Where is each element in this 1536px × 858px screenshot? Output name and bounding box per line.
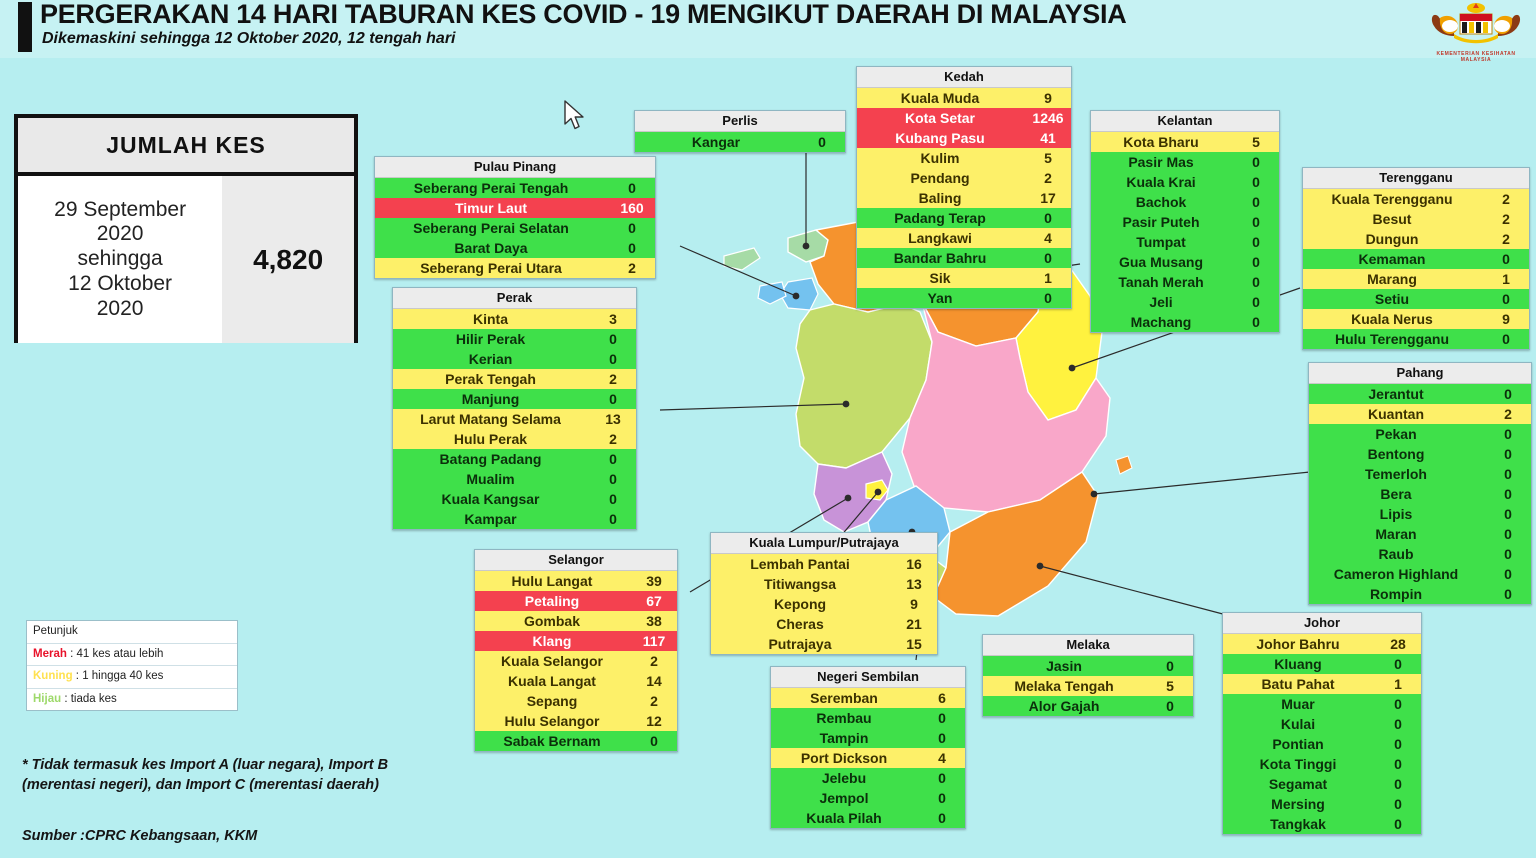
district-case-count: 2	[631, 694, 677, 708]
coat-of-arms-icon	[1424, 2, 1528, 48]
legend-swatch-green: Hijau	[33, 693, 61, 705]
district-case-count: 0	[1025, 251, 1071, 265]
district-name: Setiu	[1303, 292, 1483, 306]
state-table-terengganu: TerengganuKuala Terengganu2Besut2Dungun2…	[1302, 167, 1530, 350]
district-name: Perak Tengah	[393, 372, 590, 386]
source-text: Sumber :CPRC Kebangsaan, KKM	[22, 828, 257, 844]
district-name: Putrajaya	[711, 637, 891, 651]
district-case-count: 9	[1025, 91, 1071, 105]
district-row: Kuala Krai0	[1091, 172, 1279, 192]
district-name: Cameron Highland	[1309, 567, 1485, 581]
district-case-count: 0	[1147, 659, 1193, 673]
district-name: Pendang	[857, 171, 1025, 185]
district-name: Sik	[857, 271, 1025, 285]
district-row: Sepang2	[475, 691, 677, 711]
district-case-count: 0	[1233, 255, 1279, 269]
district-case-count: 6	[919, 691, 965, 705]
district-name: Kuala Nerus	[1303, 312, 1483, 326]
district-row: Baling17	[857, 188, 1071, 208]
district-row: Kota Bharu5	[1091, 132, 1279, 152]
legend-item-red: Merah : 41 kes atau lebih	[27, 644, 237, 667]
district-case-count: 0	[919, 771, 965, 785]
district-name: Pasir Puteh	[1091, 215, 1233, 229]
district-case-count: 0	[1375, 697, 1421, 711]
district-row: Langkawi4	[857, 228, 1071, 248]
district-name: Hulu Langat	[475, 574, 631, 588]
district-row: Sabak Bernam0	[475, 731, 677, 751]
state-table-kelantan: KelantanKota Bharu5Pasir Mas0Kuala Krai0…	[1090, 110, 1280, 333]
state-table-pahang: PahangJerantut0Kuantan2Pekan0Bentong0Tem…	[1308, 362, 1532, 605]
district-case-count: 0	[1485, 387, 1531, 401]
district-name: Hulu Terengganu	[1303, 332, 1483, 346]
district-name: Pontian	[1223, 737, 1375, 751]
district-row: Kulim5	[857, 148, 1071, 168]
district-case-count: 2	[590, 372, 636, 386]
district-name: Melaka Tengah	[983, 679, 1147, 693]
district-case-count: 5	[1147, 679, 1193, 693]
district-name: Kuala Pilah	[771, 811, 919, 825]
district-name: Seberang Perai Tengah	[375, 181, 609, 195]
district-case-count: 0	[590, 352, 636, 366]
district-row: Perak Tengah2	[393, 369, 636, 389]
legend-text-green: : tiada kes	[61, 693, 117, 705]
district-case-count: 0	[1485, 507, 1531, 521]
district-name: Kubang Pasu	[857, 131, 1025, 145]
district-name: Padang Terap	[857, 211, 1025, 225]
district-row: Padang Terap0	[857, 208, 1071, 228]
district-name: Muar	[1223, 697, 1375, 711]
district-row: Bera0	[1309, 484, 1531, 504]
district-row: Maran0	[1309, 524, 1531, 544]
district-row: Larut Matang Selama13	[393, 409, 636, 429]
district-row: Tampin0	[771, 728, 965, 748]
district-name: Yan	[857, 291, 1025, 305]
district-name: Titiwangsa	[711, 577, 891, 591]
district-row: Temerloh0	[1309, 464, 1531, 484]
district-row: Kubang Pasu41	[857, 128, 1071, 148]
district-case-count: 2	[1483, 232, 1529, 246]
district-case-count: 41	[1025, 131, 1071, 145]
district-row: Batang Padang0	[393, 449, 636, 469]
district-case-count: 0	[1025, 291, 1071, 305]
state-table-title: Selangor	[475, 550, 677, 571]
district-case-count: 15	[891, 637, 937, 651]
district-case-count: 1246	[1025, 111, 1071, 125]
district-case-count: 0	[1485, 547, 1531, 561]
district-row: Rompin0	[1309, 584, 1531, 604]
district-case-count: 9	[891, 597, 937, 611]
district-row: Kota Tinggi0	[1223, 754, 1421, 774]
district-row: Klang117	[475, 631, 677, 651]
district-name: Kinta	[393, 312, 590, 326]
district-row: Barat Daya0	[375, 238, 655, 258]
district-name: Port Dickson	[771, 751, 919, 765]
legend-item-yellow: Kuning : 1 hingga 40 kes	[27, 666, 237, 689]
district-row: Jeli0	[1091, 292, 1279, 312]
state-table-title: Pulau Pinang	[375, 157, 655, 178]
district-case-count: 0	[1485, 447, 1531, 461]
district-case-count: 9	[1483, 312, 1529, 326]
state-table-title: Perlis	[635, 111, 845, 132]
state-table-kuala-lumpur-putrajaya: Kuala Lumpur/PutrajayaLembah Pantai16Tit…	[710, 532, 938, 655]
district-case-count: 0	[1147, 699, 1193, 713]
district-case-count: 0	[1375, 737, 1421, 751]
district-case-count: 39	[631, 574, 677, 588]
district-row: Marang1	[1303, 269, 1529, 289]
district-case-count: 160	[609, 201, 655, 215]
district-row: Besut2	[1303, 209, 1529, 229]
district-name: Hulu Perak	[393, 432, 590, 446]
district-name: Bera	[1309, 487, 1485, 501]
district-row: Kangar0	[635, 132, 845, 152]
district-case-count: 117	[631, 634, 677, 648]
page-title: PERGERAKAN 14 HARI TABURAN KES COVID - 1…	[40, 0, 1126, 30]
district-name: Kuala Muda	[857, 91, 1025, 105]
district-row: Jelebu0	[771, 768, 965, 788]
district-name: Rembau	[771, 711, 919, 725]
district-name: Bandar Bahru	[857, 251, 1025, 265]
legend-text-red: : 41 kes atau lebih	[67, 648, 164, 660]
district-row: Tangkak0	[1223, 814, 1421, 834]
legend-title: Petunjuk	[27, 621, 237, 644]
district-name: Tangkak	[1223, 817, 1375, 831]
district-name: Tumpat	[1091, 235, 1233, 249]
district-name: Klang	[475, 634, 631, 648]
district-name: Gua Musang	[1091, 255, 1233, 269]
district-case-count: 0	[1375, 717, 1421, 731]
district-case-count: 0	[609, 181, 655, 195]
district-row: Manjung0	[393, 389, 636, 409]
district-row: Batu Pahat1	[1223, 674, 1421, 694]
district-case-count: 0	[1375, 777, 1421, 791]
district-name: Sepang	[475, 694, 631, 708]
district-name: Kuala Terengganu	[1303, 192, 1483, 206]
logo-caption-line2: MALAYSIA	[1424, 57, 1528, 63]
district-row: Pendang2	[857, 168, 1071, 188]
district-name: Kuantan	[1309, 407, 1485, 421]
district-name: Mualim	[393, 472, 590, 486]
district-name: Kangar	[635, 135, 799, 149]
date-range-line-1: 29 September	[54, 198, 186, 223]
district-case-count: 0	[1485, 567, 1531, 581]
district-row: Kepong9	[711, 594, 937, 614]
header-accent-bar	[18, 2, 32, 52]
district-name: Barat Daya	[375, 241, 609, 255]
district-row: Kota Setar1246	[857, 108, 1071, 128]
district-row: Bandar Bahru0	[857, 248, 1071, 268]
district-row: Kemaman0	[1303, 249, 1529, 269]
district-row: Kuala Pilah0	[771, 808, 965, 828]
district-case-count: 0	[1375, 757, 1421, 771]
district-case-count: 0	[590, 492, 636, 506]
district-case-count: 0	[919, 811, 965, 825]
district-row: Bachok0	[1091, 192, 1279, 212]
state-table-title: Kuala Lumpur/Putrajaya	[711, 533, 937, 554]
district-row: Pasir Puteh0	[1091, 212, 1279, 232]
district-case-count: 0	[1375, 817, 1421, 831]
district-name: Lembah Pantai	[711, 557, 891, 571]
district-name: Pasir Mas	[1091, 155, 1233, 169]
district-case-count: 1	[1025, 271, 1071, 285]
district-row: Kampar0	[393, 509, 636, 529]
district-name: Bentong	[1309, 447, 1485, 461]
district-name: Jeli	[1091, 295, 1233, 309]
district-case-count: 21	[891, 617, 937, 631]
district-name: Gombak	[475, 614, 631, 628]
district-case-count: 1	[1483, 272, 1529, 286]
district-row: Putrajaya15	[711, 634, 937, 654]
district-case-count: 0	[1233, 215, 1279, 229]
district-name: Hulu Selangor	[475, 714, 631, 728]
district-name: Tampin	[771, 731, 919, 745]
legend-swatch-yellow: Kuning	[33, 670, 73, 682]
district-case-count: 2	[590, 432, 636, 446]
state-table-kedah: KedahKuala Muda9Kota Setar1246Kubang Pas…	[856, 66, 1072, 309]
moh-malaysia-logo: KEMENTERIAN KESIHATAN MALAYSIA	[1424, 2, 1528, 64]
district-case-count: 17	[1025, 191, 1071, 205]
district-row: Melaka Tengah5	[983, 676, 1193, 696]
district-row: Hulu Terengganu0	[1303, 329, 1529, 349]
district-case-count: 0	[1233, 175, 1279, 189]
district-row: Cameron Highland0	[1309, 564, 1531, 584]
district-name: Kota Bharu	[1091, 135, 1233, 149]
district-case-count: 13	[590, 412, 636, 426]
district-row: Kuala Nerus9	[1303, 309, 1529, 329]
district-row: Seberang Perai Utara2	[375, 258, 655, 278]
district-name: Dungun	[1303, 232, 1483, 246]
district-case-count: 1	[1375, 677, 1421, 691]
district-name: Cheras	[711, 617, 891, 631]
district-case-count: 0	[1233, 275, 1279, 289]
district-name: Sabak Bernam	[475, 734, 631, 748]
map-region-tioman-island	[1116, 456, 1132, 474]
district-row: Seberang Perai Tengah0	[375, 178, 655, 198]
district-row: Bentong0	[1309, 444, 1531, 464]
legend-petunjuk: Petunjuk Merah : 41 kes atau lebih Kunin…	[26, 620, 238, 711]
district-case-count: 2	[609, 261, 655, 275]
state-table-negeri-sembilan: Negeri SembilanSeremban6Rembau0Tampin0Po…	[770, 666, 966, 829]
district-name: Kuala Selangor	[475, 654, 631, 668]
district-name: Alor Gajah	[983, 699, 1147, 713]
district-case-count: 13	[891, 577, 937, 591]
district-case-count: 67	[631, 594, 677, 608]
state-table-johor: JohorJohor Bahru28Kluang0Batu Pahat1Muar…	[1222, 612, 1422, 835]
district-name: Johor Bahru	[1223, 637, 1375, 651]
district-row: Kuala Terengganu2	[1303, 189, 1529, 209]
district-case-count: 28	[1375, 637, 1421, 651]
district-row: Machang0	[1091, 312, 1279, 332]
district-case-count: 38	[631, 614, 677, 628]
district-name: Kluang	[1223, 657, 1375, 671]
district-case-count: 0	[1025, 211, 1071, 225]
district-case-count: 0	[590, 452, 636, 466]
state-table-title: Negeri Sembilan	[771, 667, 965, 688]
district-name: Kuala Krai	[1091, 175, 1233, 189]
district-case-count: 0	[609, 241, 655, 255]
district-name: Kemaman	[1303, 252, 1483, 266]
district-row: Jasin0	[983, 656, 1193, 676]
district-case-count: 0	[919, 711, 965, 725]
district-row: Dungun2	[1303, 229, 1529, 249]
district-name: Tanah Merah	[1091, 275, 1233, 289]
district-name: Segamat	[1223, 777, 1375, 791]
district-case-count: 0	[1483, 332, 1529, 346]
district-name: Batu Pahat	[1223, 677, 1375, 691]
district-case-count: 0	[590, 392, 636, 406]
district-name: Langkawi	[857, 231, 1025, 245]
district-row: Seberang Perai Selatan0	[375, 218, 655, 238]
district-case-count: 14	[631, 674, 677, 688]
date-range-line-4: 12 Oktober	[68, 272, 172, 297]
district-row: Jempol0	[771, 788, 965, 808]
district-row: Pasir Mas0	[1091, 152, 1279, 172]
district-case-count: 0	[1233, 235, 1279, 249]
total-cases-box: JUMLAH KES 29 September 2020 sehingga 12…	[14, 114, 358, 343]
date-range-line-5: 2020	[97, 297, 144, 322]
district-row: Tanah Merah0	[1091, 272, 1279, 292]
state-table-title: Perak	[393, 288, 636, 309]
district-row: Segamat0	[1223, 774, 1421, 794]
district-case-count: 0	[919, 731, 965, 745]
total-cases-date-range: 29 September 2020 sehingga 12 Oktober 20…	[18, 176, 222, 343]
total-cases-value: 4,820	[222, 176, 354, 343]
district-row: Rembau0	[771, 708, 965, 728]
district-case-count: 0	[1375, 657, 1421, 671]
total-cases-heading: JUMLAH KES	[18, 118, 354, 176]
district-case-count: 0	[590, 472, 636, 486]
district-case-count: 2	[1483, 192, 1529, 206]
legend-swatch-red: Merah	[33, 648, 67, 660]
district-case-count: 0	[1485, 427, 1531, 441]
footnote-text: * Tidak termasuk kes Import A (luar nega…	[22, 756, 452, 795]
district-name: Kampar	[393, 512, 590, 526]
state-table-melaka: MelakaJasin0Melaka Tengah5Alor Gajah0	[982, 634, 1194, 717]
district-name: Temerloh	[1309, 467, 1485, 481]
district-case-count: 0	[1233, 195, 1279, 209]
district-name: Jelebu	[771, 771, 919, 785]
logo-caption: KEMENTERIAN KESIHATAN MALAYSIA	[1424, 51, 1528, 64]
district-case-count: 0	[1483, 252, 1529, 266]
district-case-count: 0	[1485, 587, 1531, 601]
district-case-count: 0	[799, 135, 845, 149]
district-row: Kuala Kangsar0	[393, 489, 636, 509]
district-name: Mersing	[1223, 797, 1375, 811]
district-name: Seberang Perai Selatan	[375, 221, 609, 235]
district-name: Petaling	[475, 594, 631, 608]
district-name: Lipis	[1309, 507, 1485, 521]
district-row: Pontian0	[1223, 734, 1421, 754]
district-row: Mualim0	[393, 469, 636, 489]
district-row: Johor Bahru28	[1223, 634, 1421, 654]
district-case-count: 0	[1233, 295, 1279, 309]
district-case-count: 0	[1485, 487, 1531, 501]
district-case-count: 12	[631, 714, 677, 728]
district-row: Kluang0	[1223, 654, 1421, 674]
district-row: Port Dickson4	[771, 748, 965, 768]
district-row: Hulu Selangor12	[475, 711, 677, 731]
state-table-title: Pahang	[1309, 363, 1531, 384]
district-row: Hulu Perak2	[393, 429, 636, 449]
district-name: Kulai	[1223, 717, 1375, 731]
district-row: Kerian0	[393, 349, 636, 369]
district-row: Mersing0	[1223, 794, 1421, 814]
district-name: Kuala Kangsar	[393, 492, 590, 506]
district-name: Rompin	[1309, 587, 1485, 601]
legend-item-green: Hijau : tiada kes	[27, 689, 237, 711]
state-table-title: Kedah	[857, 67, 1071, 88]
legend-text-yellow: : 1 hingga 40 kes	[73, 670, 164, 682]
district-row: Pekan0	[1309, 424, 1531, 444]
district-case-count: 0	[1375, 797, 1421, 811]
district-row: Kuala Muda9	[857, 88, 1071, 108]
district-name: Kota Setar	[857, 111, 1025, 125]
district-case-count: 4	[919, 751, 965, 765]
district-row: Hilir Perak0	[393, 329, 636, 349]
district-name: Pekan	[1309, 427, 1485, 441]
district-row: Muar0	[1223, 694, 1421, 714]
district-name: Jasin	[983, 659, 1147, 673]
district-case-count: 4	[1025, 231, 1071, 245]
district-row: Yan0	[857, 288, 1071, 308]
page-subtitle: Dikemaskini sehingga 12 Oktober 2020, 12…	[42, 30, 456, 48]
district-row: Cheras21	[711, 614, 937, 634]
district-row: Seremban6	[771, 688, 965, 708]
district-case-count: 16	[891, 557, 937, 571]
district-case-count: 3	[590, 312, 636, 326]
district-row: Kuala Selangor2	[475, 651, 677, 671]
district-case-count: 0	[590, 332, 636, 346]
district-row: Jerantut0	[1309, 384, 1531, 404]
district-case-count: 0	[1485, 467, 1531, 481]
district-row: Lembah Pantai16	[711, 554, 937, 574]
district-name: Raub	[1309, 547, 1485, 561]
district-row: Raub0	[1309, 544, 1531, 564]
district-name: Timur Laut	[375, 201, 609, 215]
district-row: Gombak38	[475, 611, 677, 631]
district-row: Sik1	[857, 268, 1071, 288]
state-table-perak: PerakKinta3Hilir Perak0Kerian0Perak Teng…	[392, 287, 637, 530]
district-name: Kepong	[711, 597, 891, 611]
district-case-count: 2	[1485, 407, 1531, 421]
district-name: Manjung	[393, 392, 590, 406]
district-name: Baling	[857, 191, 1025, 205]
total-cases-body: 29 September 2020 sehingga 12 Oktober 20…	[18, 176, 354, 343]
district-name: Jerantut	[1309, 387, 1485, 401]
district-name: Kota Tinggi	[1223, 757, 1375, 771]
district-case-count: 0	[1233, 315, 1279, 329]
district-row: Kuala Langat14	[475, 671, 677, 691]
district-case-count: 0	[1485, 527, 1531, 541]
state-table-title: Kelantan	[1091, 111, 1279, 132]
district-case-count: 2	[1483, 212, 1529, 226]
district-row: Lipis0	[1309, 504, 1531, 524]
district-case-count: 2	[1025, 171, 1071, 185]
district-name: Maran	[1309, 527, 1485, 541]
district-name: Bachok	[1091, 195, 1233, 209]
state-table-title: Terengganu	[1303, 168, 1529, 189]
district-name: Kulim	[857, 151, 1025, 165]
state-table-title: Melaka	[983, 635, 1193, 656]
district-name: Batang Padang	[393, 452, 590, 466]
state-table-title: Johor	[1223, 613, 1421, 634]
mouse-cursor-icon	[563, 100, 587, 132]
district-case-count: 5	[1233, 135, 1279, 149]
district-case-count: 0	[609, 221, 655, 235]
district-name: Seberang Perai Utara	[375, 261, 609, 275]
district-row: Petaling67	[475, 591, 677, 611]
district-row: Gua Musang0	[1091, 252, 1279, 272]
district-case-count: 5	[1025, 151, 1071, 165]
